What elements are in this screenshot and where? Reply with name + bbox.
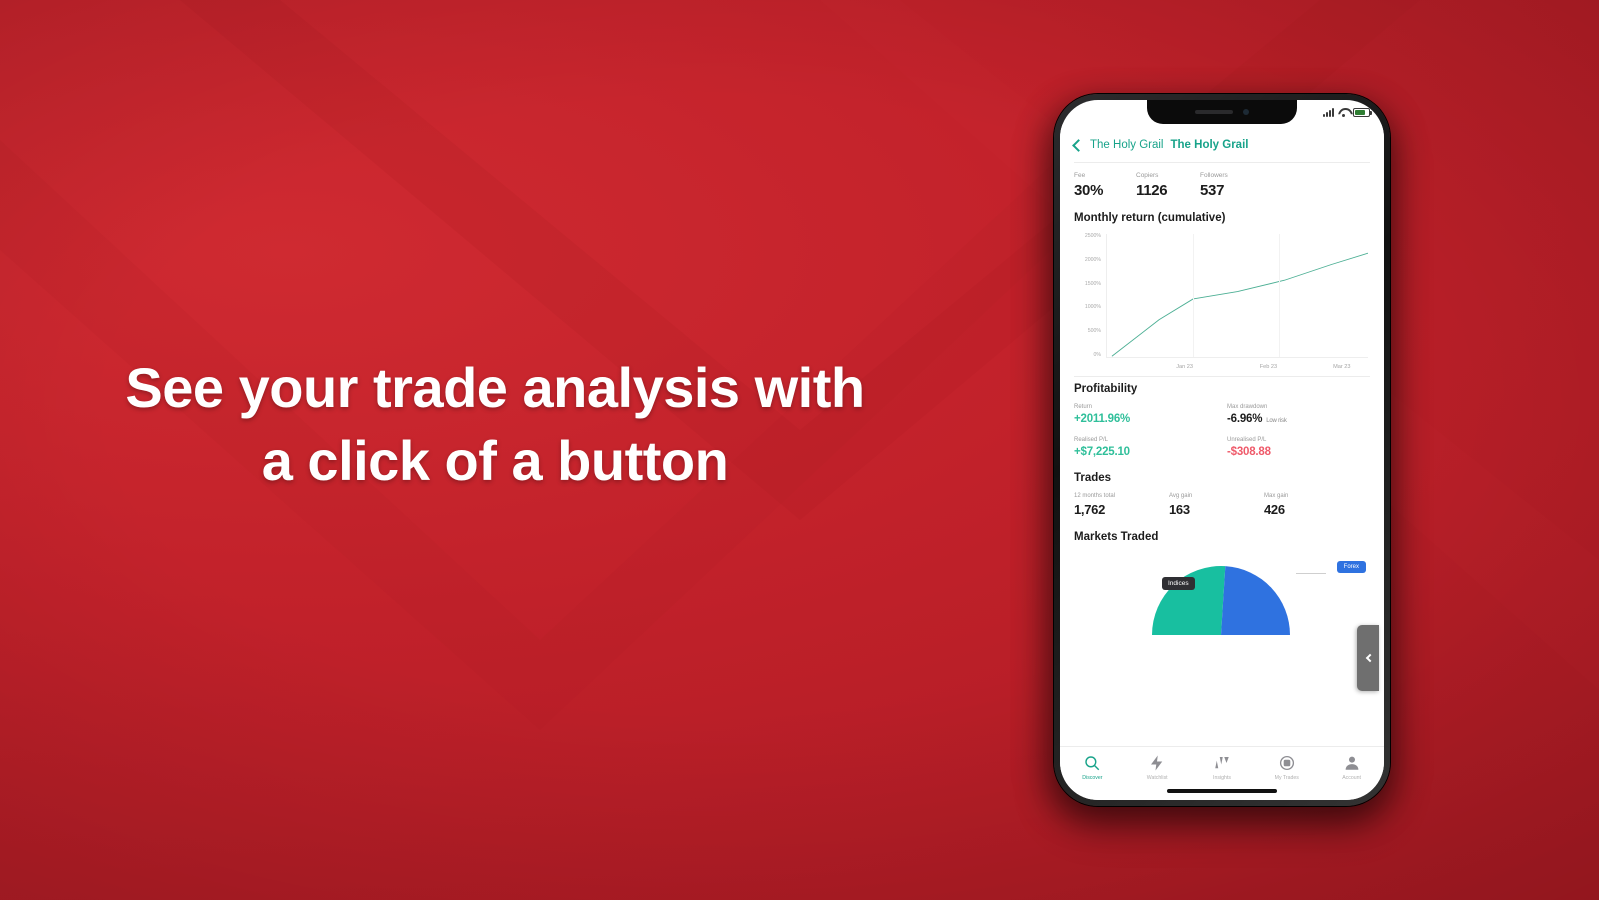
monthly-return-chart-section: Monthly return (cumulative) 2500%2000%15… xyxy=(1074,212,1370,374)
profitability-section: Profitability Return+2011.96%Max drawdow… xyxy=(1074,383,1370,458)
trades-item: Avg gain163 xyxy=(1169,493,1264,517)
chart-y-axis: 2500%2000%1500%1000%500%0% xyxy=(1074,234,1104,358)
tab-watchlist[interactable]: Watchlist xyxy=(1125,754,1190,781)
chart-y-tick-3: 1000% xyxy=(1085,305,1101,310)
signal-bars-icon xyxy=(1323,108,1334,117)
headline-line-1: See your trade analysis with xyxy=(125,356,864,419)
stat-fee: Fee 30% xyxy=(1074,172,1136,199)
profile-stats-row: Fee 30% Copiers 1126 Followers 537 xyxy=(1074,172,1370,199)
front-camera-icon xyxy=(1243,109,1249,115)
chart-area: 2500%2000%1500%1000%500%0% Jan 23Feb 23M… xyxy=(1074,234,1370,374)
stat-followers-label: Followers xyxy=(1200,172,1228,179)
tab-my-trades[interactable]: My Trades xyxy=(1254,754,1319,781)
markets-traded-title: Markets Traded xyxy=(1074,531,1370,543)
side-drawer-toggle[interactable] xyxy=(1357,625,1379,691)
risk-tag: Low risk xyxy=(1266,418,1286,424)
profitability-item: Unrealised P/L-$308.88 xyxy=(1227,437,1370,458)
chart-plot xyxy=(1106,234,1368,358)
tab-insights[interactable]: Insights xyxy=(1190,754,1255,781)
chart-x-tick-2: Mar 23 xyxy=(1333,364,1350,370)
chart-y-tick-4: 500% xyxy=(1088,329,1101,334)
chart-y-tick-0: 2500% xyxy=(1085,234,1101,239)
home-indicator xyxy=(1167,789,1277,793)
trades-row: 12 months total1,762Avg gain163Max gain4… xyxy=(1074,493,1370,517)
chart-y-tick-5: 0% xyxy=(1094,353,1102,358)
profitability-item: Return+2011.96% xyxy=(1074,404,1217,425)
headline-line-2: a click of a button xyxy=(0,425,990,498)
stat-fee-value: 30% xyxy=(1074,182,1136,199)
tab-discover[interactable]: Discover xyxy=(1060,754,1125,781)
phone-notch xyxy=(1147,100,1297,124)
chart-divider xyxy=(1074,376,1370,377)
stat-copiers-value: 1126 xyxy=(1136,182,1200,199)
back-link-label[interactable]: The Holy Grail xyxy=(1090,139,1164,151)
profitability-grid: Return+2011.96%Max drawdown-6.96%Low ris… xyxy=(1074,404,1370,458)
chart-y-tick-2: 1500% xyxy=(1085,282,1101,287)
page-title: The Holy Grail xyxy=(1171,139,1249,151)
chart-y-tick-1: 2000% xyxy=(1085,258,1101,263)
wifi-icon xyxy=(1338,108,1349,117)
chart-x-axis: Jan 23Feb 23Mar 23 xyxy=(1106,360,1368,374)
battery-icon xyxy=(1353,108,1370,117)
profitability-label-0: Return xyxy=(1074,404,1217,410)
chevron-left-icon xyxy=(1365,654,1373,662)
profitability-title: Profitability xyxy=(1074,383,1370,395)
tab-label: My Trades xyxy=(1275,775,1299,781)
profitability-label-3: Unrealised P/L xyxy=(1227,437,1370,443)
trades-item: 12 months total1,762 xyxy=(1074,493,1169,517)
chart-x-tick-1: Feb 23 xyxy=(1260,364,1277,370)
profitability-value-1: -6.96%Low risk xyxy=(1227,413,1370,425)
markets-badge-forex[interactable]: Forex xyxy=(1337,561,1366,573)
profitability-value-3: -$308.88 xyxy=(1227,446,1370,458)
tab-label: Account xyxy=(1342,775,1361,781)
lightning-icon xyxy=(1148,754,1166,772)
earpiece-speaker-icon xyxy=(1195,110,1233,114)
navbar-divider xyxy=(1074,162,1370,163)
page-headline: See your trade analysis with a click of … xyxy=(0,352,990,498)
trades-value-1: 163 xyxy=(1169,502,1264,517)
trades-title: Trades xyxy=(1074,472,1370,484)
profitability-label-1: Max drawdown xyxy=(1227,404,1370,410)
profitability-label-2: Realised P/L xyxy=(1074,437,1217,443)
profitability-item: Realised P/L+$7,225.10 xyxy=(1074,437,1217,458)
stat-followers: Followers 537 xyxy=(1200,172,1228,199)
tab-label: Watchlist xyxy=(1147,775,1168,781)
phone-body: The Holy Grail The Holy Grail Fee 30% Co… xyxy=(1054,94,1390,806)
chart-gridline-1 xyxy=(1279,234,1280,357)
person-icon xyxy=(1343,754,1361,772)
stat-copiers-label: Copiers xyxy=(1136,172,1200,179)
markets-traded-section: Markets Traded Indices Forex xyxy=(1074,531,1370,609)
markets-gauge-wrap: Indices Forex xyxy=(1074,551,1370,609)
profitability-value-2: +$7,225.10 xyxy=(1074,446,1217,458)
trades-label-1: Avg gain xyxy=(1169,493,1264,499)
chart-x-tick-0: Jan 23 xyxy=(1176,364,1193,370)
trades-label-2: Max gain xyxy=(1264,493,1288,499)
trades-value-2: 426 xyxy=(1264,502,1288,517)
market-segment-forex[interactable] xyxy=(1221,566,1290,635)
phone-screen: The Holy Grail The Holy Grail Fee 30% Co… xyxy=(1060,100,1384,800)
phone-mockup: The Holy Grail The Holy Grail Fee 30% Co… xyxy=(1040,88,1400,818)
trades-section: Trades 12 months total1,762Avg gain163Ma… xyxy=(1074,472,1370,517)
stat-followers-value: 537 xyxy=(1200,182,1228,199)
chart-icon xyxy=(1213,754,1231,772)
tab-label: Insights xyxy=(1213,775,1231,781)
tab-account[interactable]: Account xyxy=(1319,754,1384,781)
chart-line-svg xyxy=(1107,234,1368,357)
trades-label-0: 12 months total xyxy=(1074,493,1169,499)
trades-item: Max gain426 xyxy=(1264,493,1288,517)
search-icon xyxy=(1083,754,1101,772)
markets-tooltip: Indices xyxy=(1162,577,1195,590)
tab-label: Discover xyxy=(1082,775,1102,781)
markets-donut-chart[interactable] xyxy=(1146,557,1296,635)
chart-section-title: Monthly return (cumulative) xyxy=(1074,212,1370,224)
record-icon xyxy=(1278,754,1296,772)
stat-copiers: Copiers 1126 xyxy=(1136,172,1200,199)
back-chevron-icon[interactable] xyxy=(1072,139,1085,152)
stat-fee-label: Fee xyxy=(1074,172,1136,179)
markets-donut-svg xyxy=(1146,557,1296,635)
profitability-item: Max drawdown-6.96%Low risk xyxy=(1227,404,1370,425)
app-navbar: The Holy Grail The Holy Grail xyxy=(1074,130,1370,160)
app-content: The Holy Grail The Holy Grail Fee 30% Co… xyxy=(1060,124,1384,746)
chart-gridline-0 xyxy=(1193,234,1194,357)
badge-leader-line xyxy=(1296,573,1326,574)
trades-value-0: 1,762 xyxy=(1074,502,1169,517)
profitability-value-0: +2011.96% xyxy=(1074,413,1217,425)
